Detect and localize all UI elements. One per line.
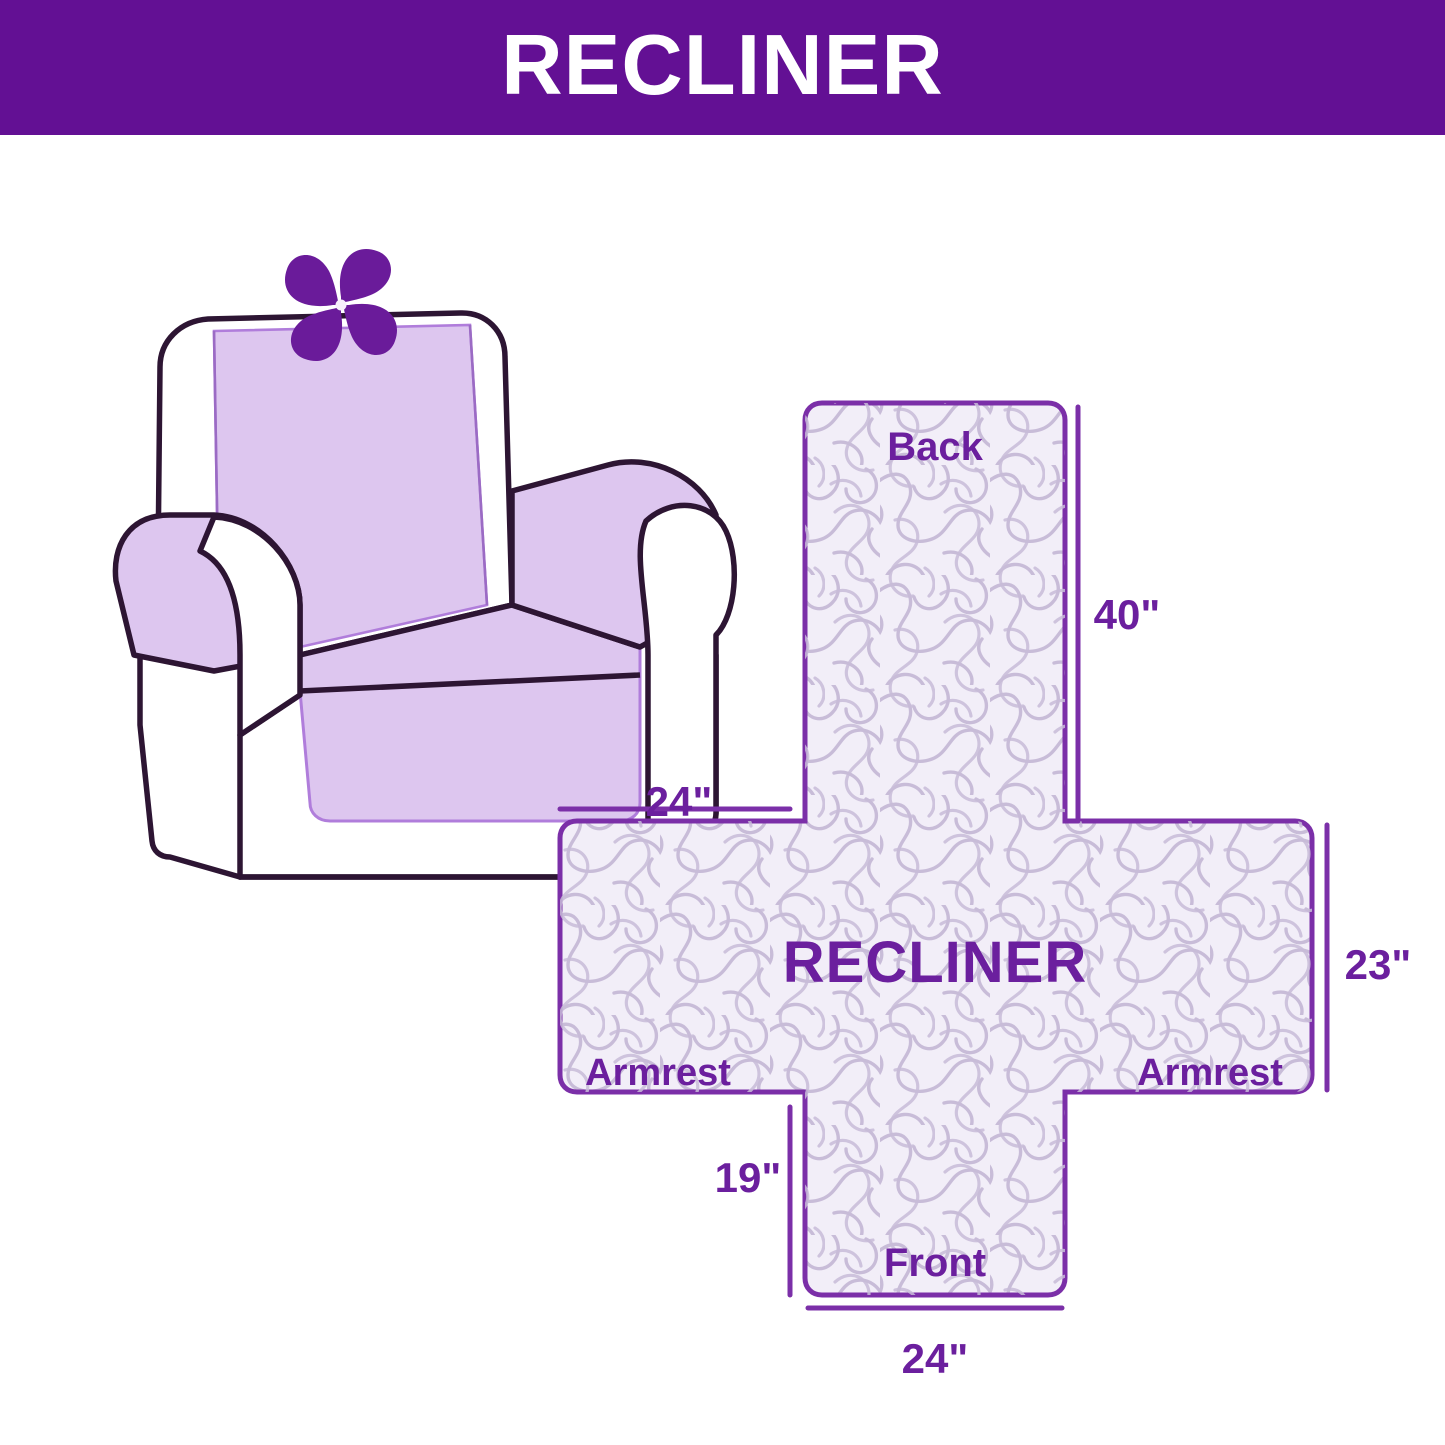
dimension-label-back-width: 24" [646, 781, 713, 823]
panel-label-back: Back [887, 427, 983, 467]
chair-illustration [0, 135, 1445, 1445]
page-title: RECLINER [501, 23, 943, 108]
dimension-label-armrest-height: 23" [1345, 944, 1412, 986]
dimension-label-front-width: 24" [902, 1338, 969, 1380]
panel-label-armrest-left: Armrest [585, 1054, 731, 1092]
dimension-label-back-height: 40" [1094, 594, 1161, 636]
panel-label-front: Front [884, 1243, 986, 1283]
diagram-stage: Back RECLINER Armrest Armrest Front 40" … [0, 135, 1445, 1445]
panel-label-center: RECLINER [783, 934, 1087, 992]
header-banner: RECLINER [0, 0, 1445, 135]
dimension-label-front-height: 19" [715, 1157, 782, 1199]
panel-label-armrest-right: Armrest [1137, 1054, 1283, 1092]
